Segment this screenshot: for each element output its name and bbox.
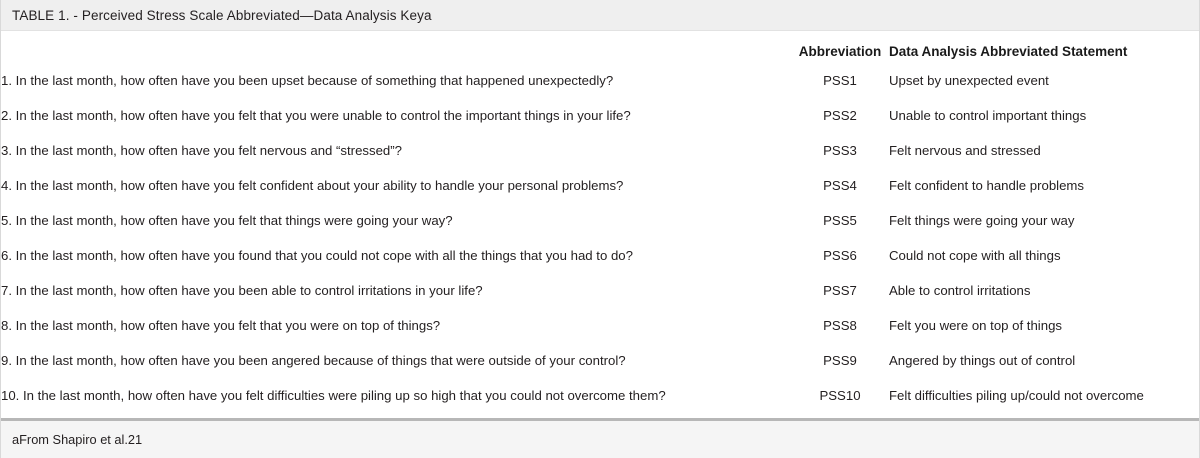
cell-abbreviation: PSS5 xyxy=(791,203,889,238)
cell-item: 8. In the last month, how often have you… xyxy=(1,308,791,343)
cell-statement: Could not cope with all things xyxy=(889,238,1200,273)
table-caption: TABLE 1. - Perceived Stress Scale Abbrev… xyxy=(12,8,432,23)
cell-abbreviation: PSS10 xyxy=(791,378,889,413)
cell-statement: Upset by unexpected event xyxy=(889,63,1200,98)
column-header-item xyxy=(1,31,791,63)
cell-item: 1. In the last month, how often have you… xyxy=(1,63,791,98)
table-row: 4. In the last month, how often have you… xyxy=(1,168,1200,203)
table-caption-band: TABLE 1. - Perceived Stress Scale Abbrev… xyxy=(1,0,1199,31)
table-row: 2. In the last month, how often have you… xyxy=(1,98,1200,133)
table-row: 10. In the last month, how often have yo… xyxy=(1,378,1200,413)
column-header-statement: Data Analysis Abbreviated Statement xyxy=(889,31,1200,63)
cell-statement: Felt things were going your way xyxy=(889,203,1200,238)
cell-item: 10. In the last month, how often have yo… xyxy=(1,378,791,413)
cell-abbreviation: PSS3 xyxy=(791,133,889,168)
cell-statement: Felt nervous and stressed xyxy=(889,133,1200,168)
table-row: 1. In the last month, how often have you… xyxy=(1,63,1200,98)
cell-item: 4. In the last month, how often have you… xyxy=(1,168,791,203)
cell-statement: Unable to control important things xyxy=(889,98,1200,133)
cell-statement: Able to control irritations xyxy=(889,273,1200,308)
table-row: 5. In the last month, how often have you… xyxy=(1,203,1200,238)
cell-item: 3. In the last month, how often have you… xyxy=(1,133,791,168)
cell-abbreviation: PSS7 xyxy=(791,273,889,308)
pss-data-table: Abbreviation Data Analysis Abbreviated S… xyxy=(1,31,1200,413)
cell-abbreviation: PSS6 xyxy=(791,238,889,273)
cell-item: 9. In the last month, how often have you… xyxy=(1,343,791,378)
cell-abbreviation: PSS4 xyxy=(791,168,889,203)
table-header-row: Abbreviation Data Analysis Abbreviated S… xyxy=(1,31,1200,63)
table-header: Abbreviation Data Analysis Abbreviated S… xyxy=(1,31,1200,63)
cell-abbreviation: PSS8 xyxy=(791,308,889,343)
cell-abbreviation: PSS1 xyxy=(791,63,889,98)
cell-item: 5. In the last month, how often have you… xyxy=(1,203,791,238)
cell-statement: Felt confident to handle problems xyxy=(889,168,1200,203)
cell-statement: Felt you were on top of things xyxy=(889,308,1200,343)
table-footnote-band: aFrom Shapiro et al.21 xyxy=(1,418,1199,458)
cell-abbreviation: PSS2 xyxy=(791,98,889,133)
table-figure: TABLE 1. - Perceived Stress Scale Abbrev… xyxy=(0,0,1200,458)
table-row: 7. In the last month, how often have you… xyxy=(1,273,1200,308)
cell-statement: Felt difficulties piling up/could not ov… xyxy=(889,378,1200,413)
table-rows: 1. In the last month, how often have you… xyxy=(1,63,1200,413)
cell-item: 7. In the last month, how often have you… xyxy=(1,273,791,308)
cell-item: 2. In the last month, how often have you… xyxy=(1,98,791,133)
table-footnote: aFrom Shapiro et al.21 xyxy=(12,432,142,447)
cell-statement: Angered by things out of control xyxy=(889,343,1200,378)
cell-abbreviation: PSS9 xyxy=(791,343,889,378)
table-body: Abbreviation Data Analysis Abbreviated S… xyxy=(1,31,1199,413)
table-row: 6. In the last month, how often have you… xyxy=(1,238,1200,273)
column-header-abbreviation: Abbreviation xyxy=(791,31,889,63)
table-row: 3. In the last month, how often have you… xyxy=(1,133,1200,168)
cell-item: 6. In the last month, how often have you… xyxy=(1,238,791,273)
table-row: 8. In the last month, how often have you… xyxy=(1,308,1200,343)
table-row: 9. In the last month, how often have you… xyxy=(1,343,1200,378)
